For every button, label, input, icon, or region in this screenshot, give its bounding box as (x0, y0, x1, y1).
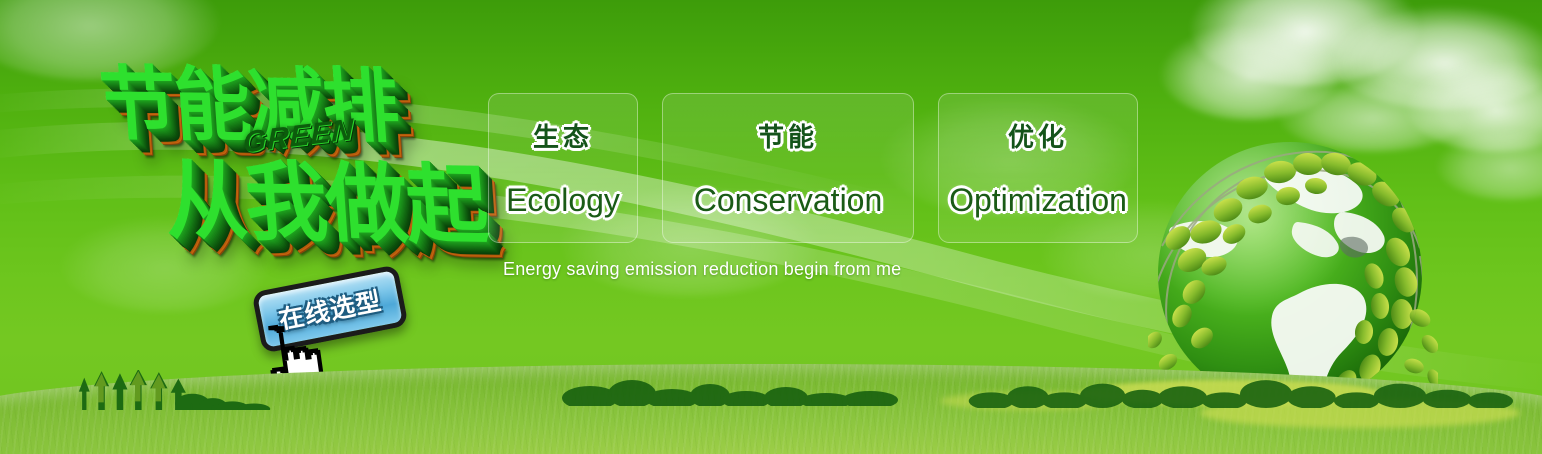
cloud-icon (1330, 6, 1542, 110)
feature-card-title-cn: 优化 (1008, 117, 1068, 154)
banner-tagline: Energy saving emission reduction begin f… (503, 259, 901, 280)
cloud-icon (1160, 24, 1340, 120)
hero-title: 节能减排 从我做起 GREEN (88, 20, 504, 287)
leaf-litter (1200, 398, 1520, 428)
cloud-icon (1436, 130, 1542, 200)
feature-card-title-en: Conservation (694, 182, 883, 219)
feature-card-title-en: Optimization (949, 182, 1127, 219)
green-energy-banner: 节能减排 从我做起 GREEN 在线选型 生态 Ecology 节能 Conse… (0, 0, 1542, 454)
cloud-icon (1190, 0, 1420, 86)
feature-card-ecology[interactable]: 生态 Ecology (488, 93, 638, 243)
feature-card-list: 生态 Ecology 节能 Conservation 优化 Optimizati… (488, 93, 1138, 243)
feature-card-optimization[interactable]: 优化 Optimization (938, 93, 1138, 243)
leaf-litter (940, 392, 1120, 410)
feature-card-conservation[interactable]: 节能 Conservation (662, 93, 914, 243)
grass-field (0, 364, 1542, 454)
feature-card-title-en: Ecology (506, 182, 620, 219)
feature-card-title-cn: 生态 (533, 117, 593, 154)
feature-card-title-cn: 节能 (758, 117, 818, 154)
